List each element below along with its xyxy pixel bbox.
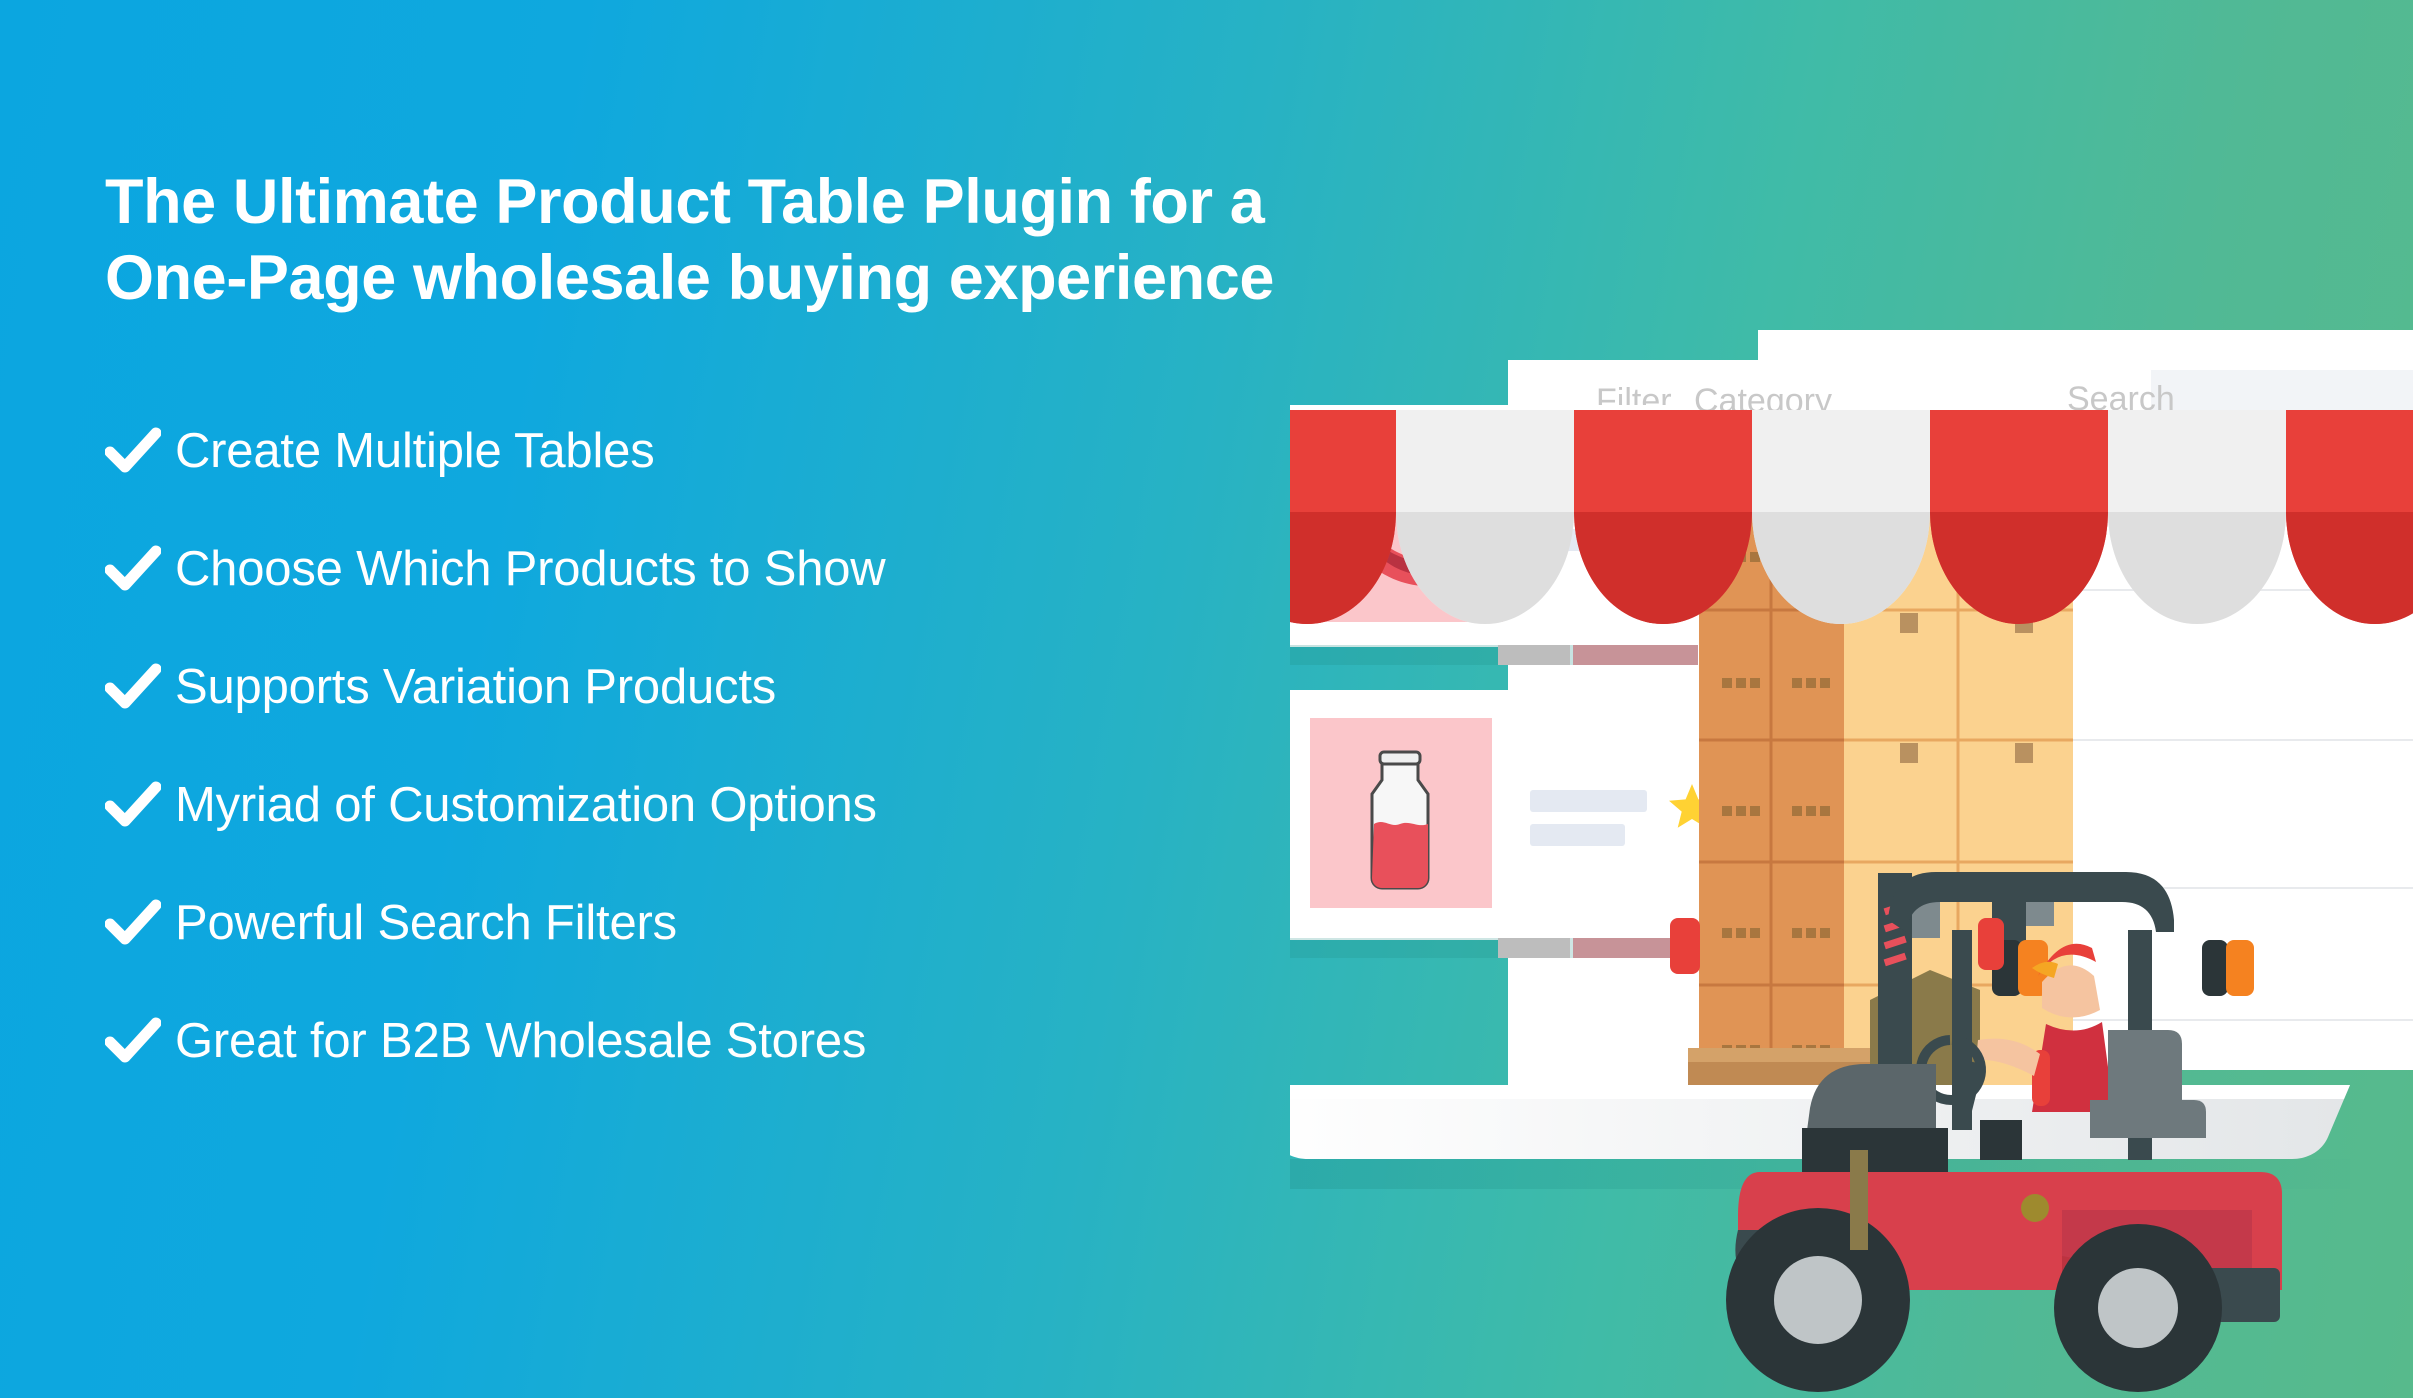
list-item: Myriad of Customization Options xyxy=(105,746,1395,864)
page-title: The Ultimate Product Table Plugin for a … xyxy=(105,165,1395,316)
forklift-wheel xyxy=(1726,1208,1910,1392)
check-icon xyxy=(105,781,167,829)
list-item: Great for B2B Wholesale Stores xyxy=(105,982,1395,1100)
list-item: Supports Variation Products xyxy=(105,628,1395,746)
check-icon xyxy=(105,899,167,947)
feature-label: Choose Which Products to Show xyxy=(175,541,886,597)
check-icon xyxy=(105,1017,167,1065)
feature-label: Great for B2B Wholesale Stores xyxy=(175,1013,866,1069)
check-icon xyxy=(105,427,167,475)
feature-list: Create Multiple Tables Choose Which Prod… xyxy=(105,392,1395,1100)
awning-scallops xyxy=(1290,410,2413,624)
forklift-wheel xyxy=(2054,1224,2222,1392)
list-item: Choose Which Products to Show xyxy=(105,510,1395,628)
check-icon xyxy=(105,663,167,711)
hero-content: The Ultimate Product Table Plugin for a … xyxy=(105,165,1395,1100)
check-icon xyxy=(105,545,167,593)
list-item: Powerful Search Filters xyxy=(105,864,1395,982)
storefront-awning xyxy=(1290,410,2413,624)
feature-label: Create Multiple Tables xyxy=(175,423,655,479)
feature-label: Powerful Search Filters xyxy=(175,895,677,951)
feature-label: Supports Variation Products xyxy=(175,659,776,715)
feature-label: Myriad of Customization Options xyxy=(175,777,877,833)
list-item: Create Multiple Tables xyxy=(105,392,1395,510)
storefront-illustration: Search xyxy=(1290,0,2413,1398)
